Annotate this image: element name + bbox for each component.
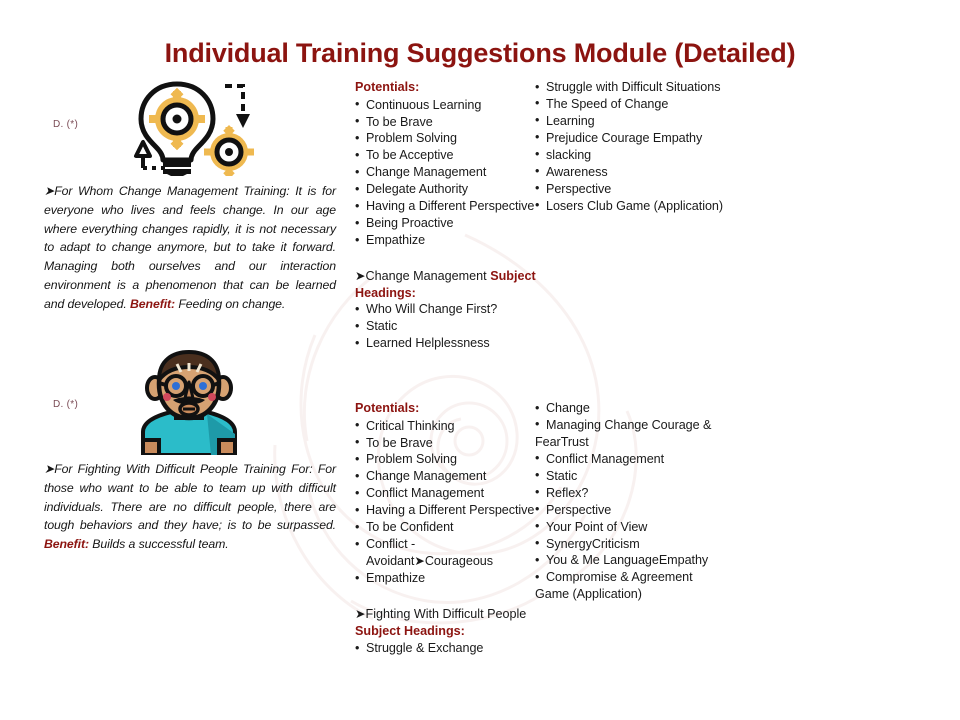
list-item: Conflict -Avoidant➤Courageous <box>355 536 537 570</box>
benefit-text-2: Builds a successful team. <box>89 537 229 551</box>
list-item: Compromise & Agreement <box>535 569 740 586</box>
list-item: Learning <box>535 113 740 130</box>
list-item: Prejudice Courage Empathy <box>535 130 740 147</box>
list-item: Reflex? <box>535 485 740 502</box>
list-item-continuation: Game (Application) <box>535 586 740 603</box>
section-2-middle-column: Potentials: Critical Thinking To be Brav… <box>355 400 537 657</box>
list-item: SynergyCriticism <box>535 536 740 553</box>
list-item: Change Management <box>355 468 537 485</box>
list-item: Static <box>355 318 537 335</box>
list-item: Perspective <box>535 181 740 198</box>
list-item: Problem Solving <box>355 451 537 468</box>
list-item: Empathize <box>355 570 537 587</box>
section-marker-label-1: D. (*) <box>53 119 78 130</box>
list-item: Who Will Change First? <box>355 301 537 318</box>
poster-page: Individual Training Suggestions Module (… <box>0 0 960 720</box>
list-item: Being Proactive <box>355 215 537 232</box>
potentials-heading-2: Potentials: <box>355 400 537 417</box>
list-item: Having a Different Perspective <box>355 198 537 215</box>
section-marker-label-2: D. (*) <box>53 399 78 410</box>
list-item: Change Management <box>355 164 537 181</box>
list-item: To be Acceptive <box>355 147 537 164</box>
section-description-text-2: ➤For Fighting With Difficult People Trai… <box>44 462 336 532</box>
list-item: Static <box>535 468 740 485</box>
benefit-label-2: Benefit: <box>44 537 89 551</box>
subject-headings-list-2: Struggle & Exchange <box>355 640 537 657</box>
list-item: slacking <box>535 147 740 164</box>
list-item: Awareness <box>535 164 740 181</box>
potentials-heading-1: Potentials: <box>355 79 537 96</box>
list-item: Learned Helplessness <box>355 335 537 352</box>
potentials-list-2: Critical Thinking To be Brave Problem So… <box>355 418 537 587</box>
section-description-text-1: ➤For Whom Change Management Training: It… <box>44 184 336 311</box>
section-description-1: ➤For Whom Change Management Training: It… <box>44 182 336 314</box>
list-item: Critical Thinking <box>355 418 537 435</box>
list-item: Conflict Management <box>535 451 740 468</box>
section-2-right-column: Change Managing Change Courage & FearTru… <box>535 400 740 603</box>
page-title: Individual Training Suggestions Module (… <box>0 38 960 69</box>
section-1-middle-column: Potentials: Continuous Learning To be Br… <box>355 79 537 352</box>
list-item: To be Brave <box>355 435 537 452</box>
potentials-list-1: Continuous Learning To be Brave Problem … <box>355 97 537 249</box>
list-item: Perspective <box>535 502 740 519</box>
list-item: Struggle with Difficult Situations <box>535 79 740 96</box>
list-item: Having a Different Perspective <box>355 502 537 519</box>
section-1-right-column: Struggle with Difficult Situations The S… <box>535 79 740 215</box>
list-item: Your Point of View <box>535 519 740 536</box>
subject-headings-lead-2: ➤Fighting With Difficult People <box>355 606 537 623</box>
list-item: Managing Change Courage & <box>535 417 740 434</box>
list-item: Conflict Management <box>355 485 537 502</box>
list-item: Struggle & Exchange <box>355 640 537 657</box>
list-item: Empathize <box>355 232 537 249</box>
list-item: Problem Solving <box>355 130 537 147</box>
list-item: The Speed of Change <box>535 96 740 113</box>
person-with-glasses-avatar-icon <box>133 350 245 455</box>
list-item: To be Confident <box>355 519 537 536</box>
benefit-text-1: Feeding on change. <box>175 297 285 311</box>
list-item: Delegate Authority <box>355 181 537 198</box>
subject-headings-list-1: Who Will Change First? Static Learned He… <box>355 301 537 352</box>
lightbulb-gear-target-icon <box>133 76 255 176</box>
potentials-right-list-2: Change Managing Change Courage & FearTru… <box>535 400 740 603</box>
list-item-continuation: FearTrust <box>535 434 740 451</box>
list-item: To be Brave <box>355 114 537 131</box>
subject-headings-lead-1: ➤Change Management Subject Headings: <box>355 268 537 301</box>
potentials-right-list-1: Struggle with Difficult Situations The S… <box>535 79 740 215</box>
subject-lead-text-1: ➤Change Management <box>355 269 490 283</box>
list-item: Continuous Learning <box>355 97 537 114</box>
list-item: You & Me LanguageEmpathy <box>535 552 740 569</box>
subject-headings-label-2: Subject Headings: <box>355 623 537 640</box>
benefit-label-1: Benefit: <box>130 297 175 311</box>
list-item: Losers Club Game (Application) <box>535 198 740 215</box>
section-description-2: ➤For Fighting With Difficult People Trai… <box>44 460 336 554</box>
list-item: Change <box>535 400 740 417</box>
